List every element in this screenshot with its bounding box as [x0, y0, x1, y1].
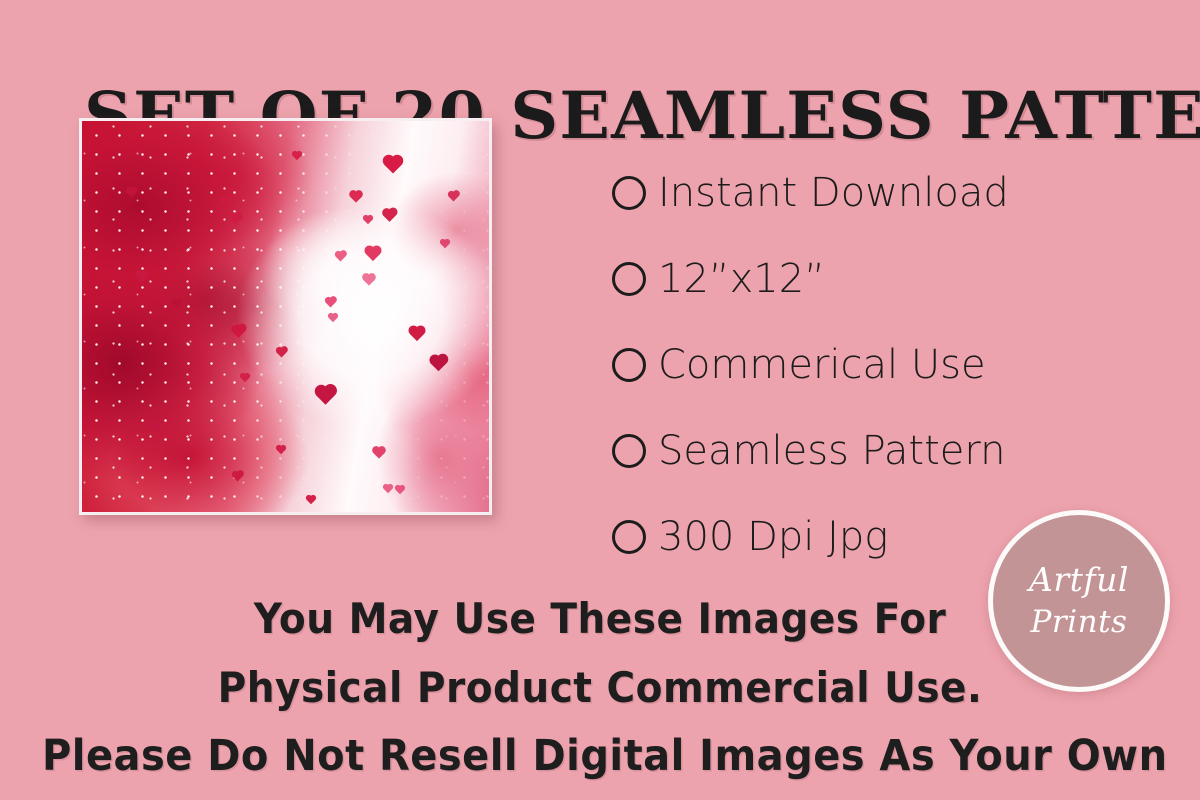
feature-item-instant-download[interactable]: Instant Download: [612, 150, 1082, 236]
heart-icon: [173, 300, 181, 308]
heart-icon: [293, 152, 301, 160]
heart-icon: [232, 325, 245, 338]
circle-bullet-icon: [612, 262, 646, 296]
heart-icon: [316, 386, 334, 404]
feature-label: 12”x12”: [658, 257, 825, 301]
heart-icon: [384, 485, 392, 493]
brand-name-line-1: Artful: [1029, 560, 1129, 600]
heart-icon: [441, 240, 449, 248]
heart-icon: [366, 247, 380, 261]
circle-bullet-icon: [612, 520, 646, 554]
feature-label: Instant Download: [658, 171, 1009, 215]
heart-icon: [431, 356, 447, 372]
feature-label: Seamless Pattern: [658, 429, 1006, 473]
heart-icon: [329, 314, 337, 322]
heart-icon: [449, 192, 459, 202]
heart-icon: [364, 216, 372, 224]
feature-label: 300 Dpi Jpg: [658, 515, 888, 559]
heart-icon: [277, 446, 285, 454]
heart-icon: [221, 198, 229, 206]
heart-icon: [373, 447, 384, 458]
brand-name-line-2: Prints: [1031, 602, 1128, 642]
circle-bullet-icon: [612, 348, 646, 382]
heart-icon: [336, 252, 346, 262]
brand-logo-badge[interactable]: Artful Prints: [988, 510, 1170, 692]
heart-icon: [383, 209, 396, 222]
watercolor-pattern-image: [82, 121, 489, 512]
heart-icon: [396, 486, 404, 494]
feature-item-commercial-use[interactable]: Commerical Use: [612, 322, 1082, 408]
heart-scatter-overlay: [82, 121, 489, 512]
circle-bullet-icon: [612, 434, 646, 468]
heart-icon: [127, 188, 137, 198]
usage-terms-line-3: Please Do Not Resell Digital Images As Y…: [42, 722, 1158, 791]
feature-list: Instant Download 12”x12” Commerical Use …: [612, 150, 1082, 580]
heart-icon: [277, 348, 287, 358]
usage-terms-line-2: Physical Product Commercial Use.: [42, 653, 1158, 722]
listing-graphic-page: SET OF 20 SEAMLESS PATTERNS: [0, 0, 1200, 800]
heart-icon: [241, 374, 249, 382]
heart-icon: [151, 424, 159, 432]
heart-icon: [350, 191, 361, 202]
feature-item-size[interactable]: 12”x12”: [612, 236, 1082, 322]
heart-icon: [136, 271, 147, 282]
heart-icon: [385, 157, 402, 174]
feature-label: Commerical Use: [658, 343, 986, 387]
feature-item-seamless-pattern[interactable]: Seamless Pattern: [612, 408, 1082, 494]
heart-icon: [326, 298, 336, 308]
pattern-preview-card[interactable]: [79, 118, 492, 515]
heart-icon: [363, 274, 374, 285]
heart-icon: [233, 472, 243, 482]
heart-icon: [230, 213, 241, 224]
circle-bullet-icon: [612, 176, 646, 210]
heart-icon: [410, 327, 424, 341]
heart-icon: [307, 496, 315, 504]
